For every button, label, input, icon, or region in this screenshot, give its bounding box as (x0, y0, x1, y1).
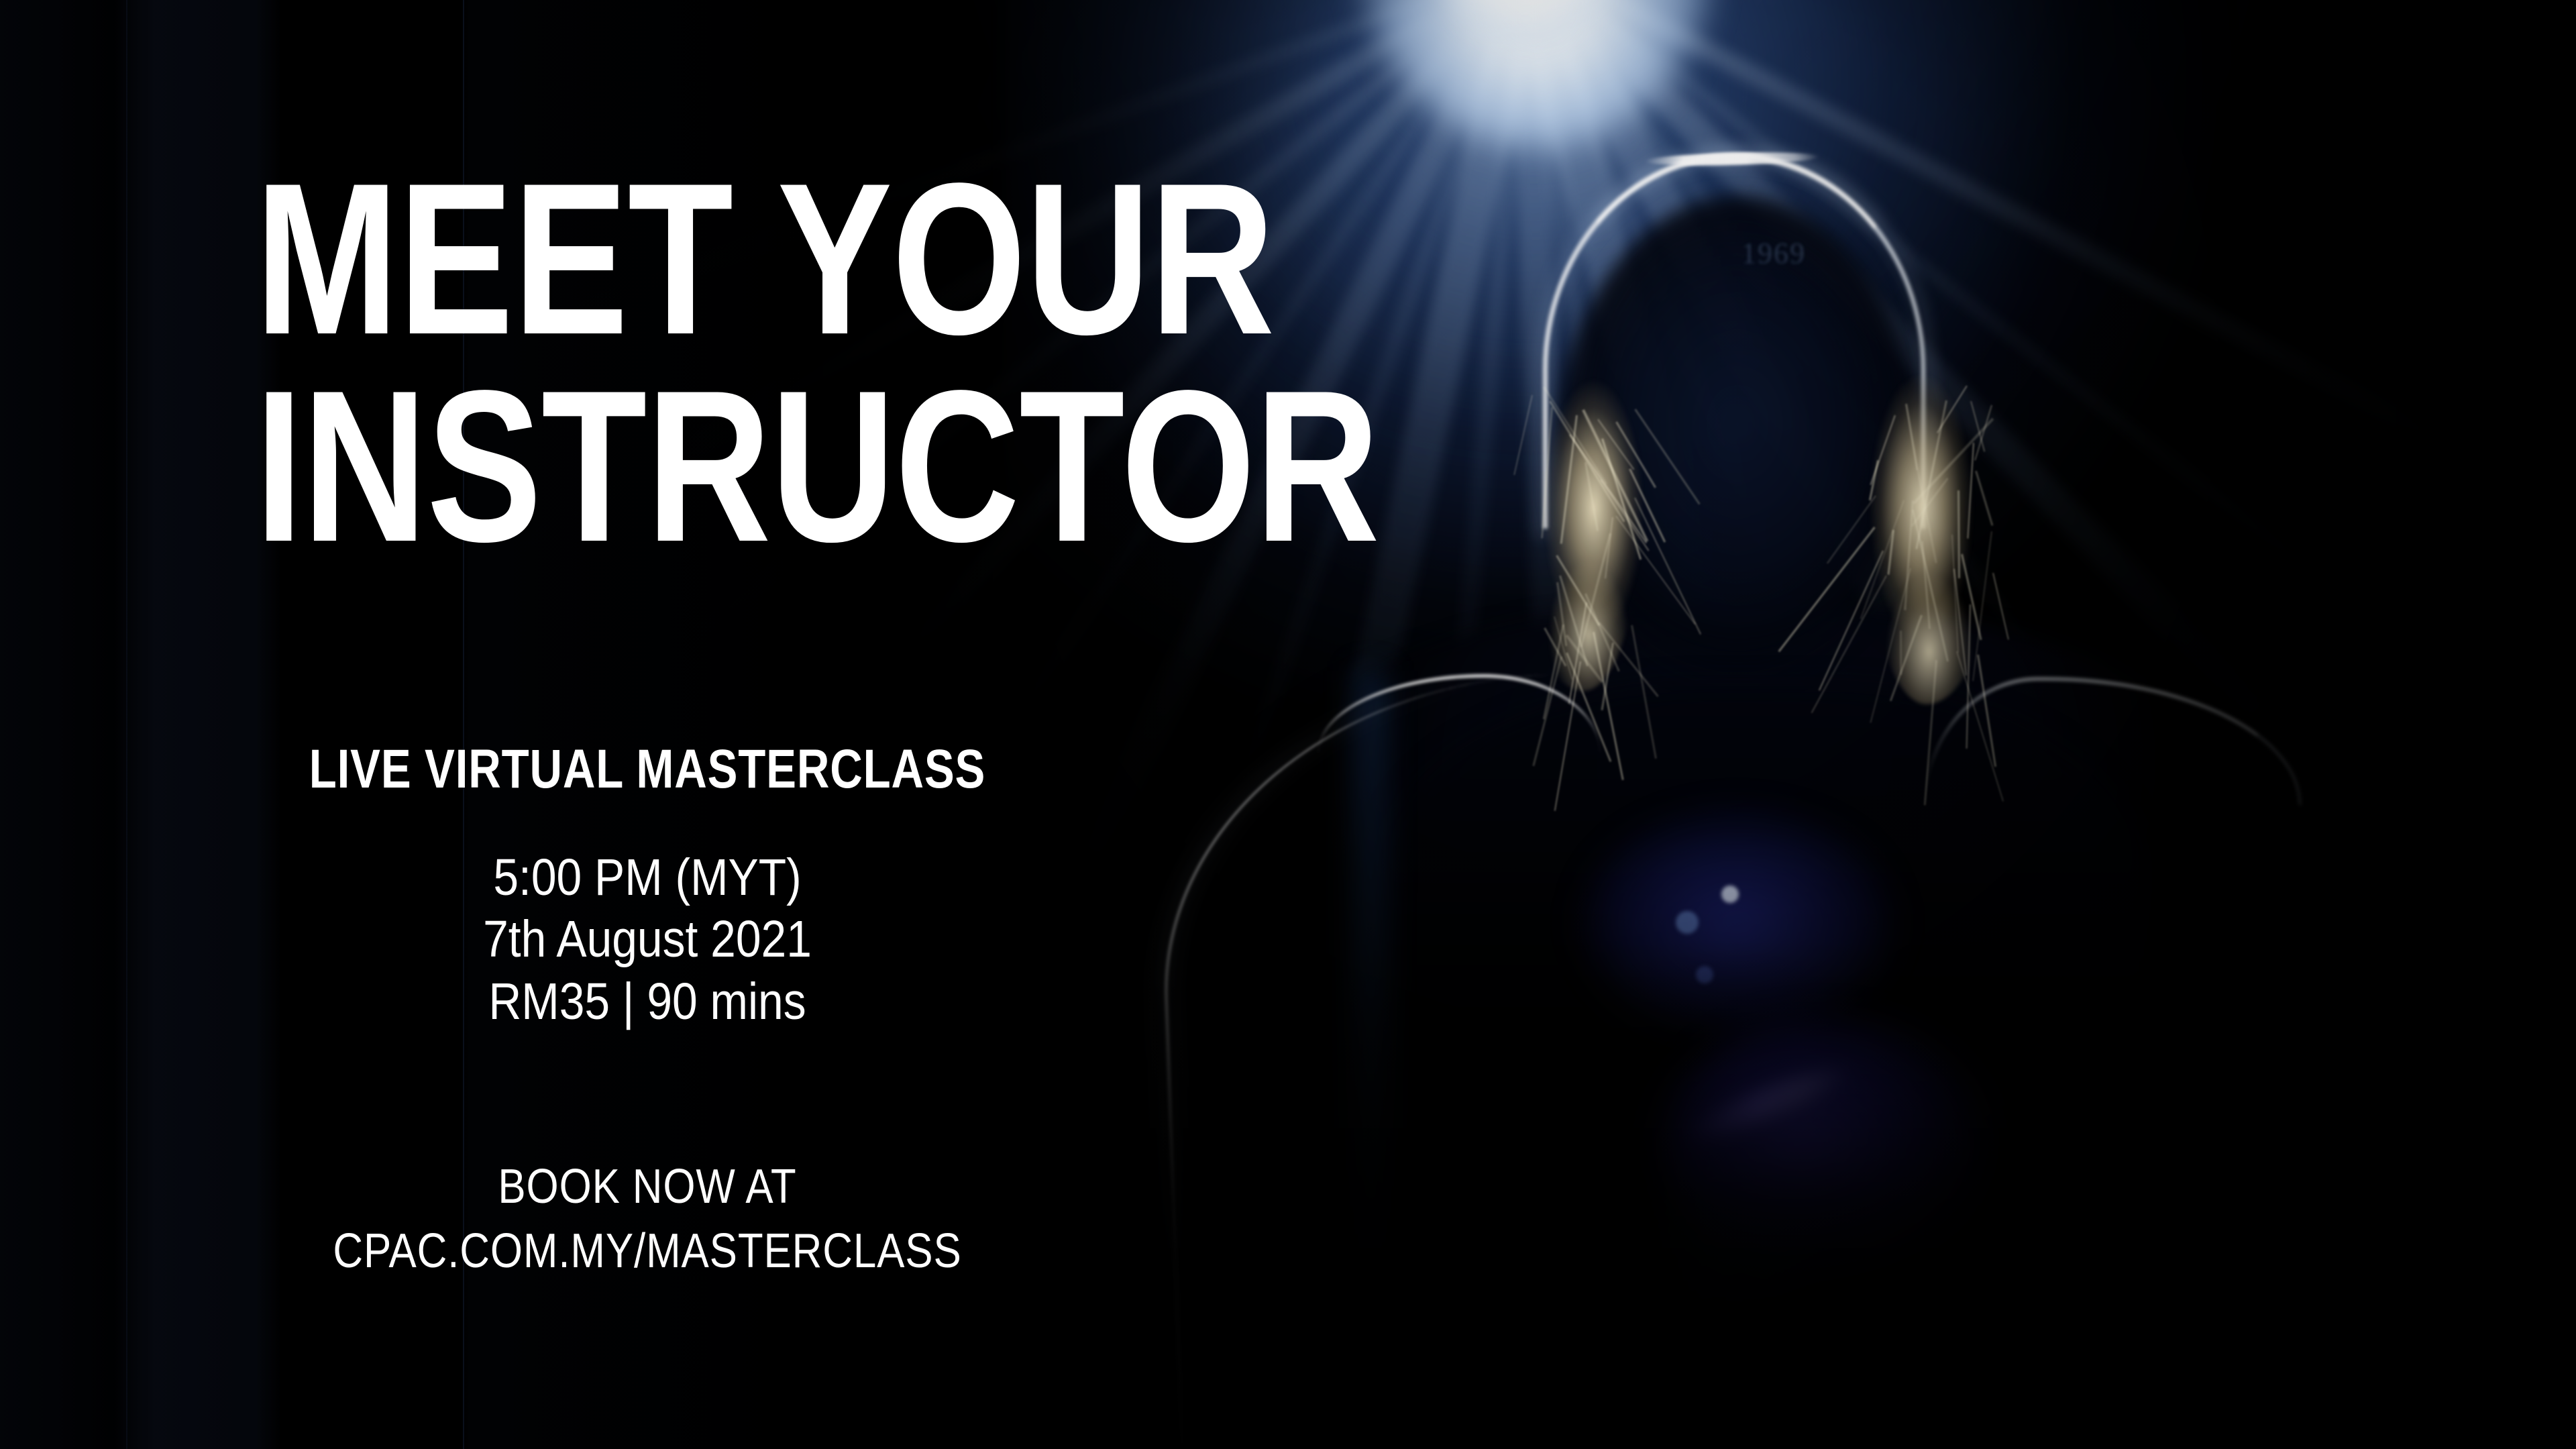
page-title: MEET YOUR INSTRUCTOR (255, 156, 963, 570)
event-time: 5:00 PM (MYT) (78, 847, 1217, 908)
booking-url[interactable]: CPAC.COM.MY/MASTERCLASS (91, 1220, 1204, 1284)
headline-line-2: INSTRUCTOR (255, 363, 963, 570)
headline-line-1: MEET YOUR (255, 156, 963, 363)
event-date: 7th August 2021 (78, 908, 1217, 970)
event-details: 5:00 PM (MYT) 7th August 2021 RM35 | 90 … (78, 847, 1217, 1032)
promo-poster: 1969 MEET YOUR INSTRUCTOR LIVE VIRTUAL M… (0, 0, 2576, 1449)
cap-logo-text: 1969 (1741, 236, 1806, 270)
lens-flare-upper (1583, 812, 1892, 1033)
flare-dot-blue-b (1696, 966, 1713, 983)
flare-dot-blue-a (1676, 911, 1699, 934)
event-price-duration: RM35 | 90 mins (78, 971, 1217, 1032)
flare-dot-white (1721, 885, 1739, 903)
text-column: MEET YOUR INSTRUCTOR LIVE VIRTUAL MASTER… (0, 0, 1295, 1449)
booking-block: BOOK NOW AT CPAC.COM.MY/MASTERCLASS (91, 1155, 1204, 1284)
hair-strand (1900, 631, 1902, 675)
subheading: LIVE VIRTUAL MASTERCLASS (117, 738, 1179, 801)
booking-cta-label: BOOK NOW AT (91, 1155, 1204, 1220)
hair-strand (1957, 490, 1960, 578)
teal-beam (1651, 1201, 1811, 1449)
